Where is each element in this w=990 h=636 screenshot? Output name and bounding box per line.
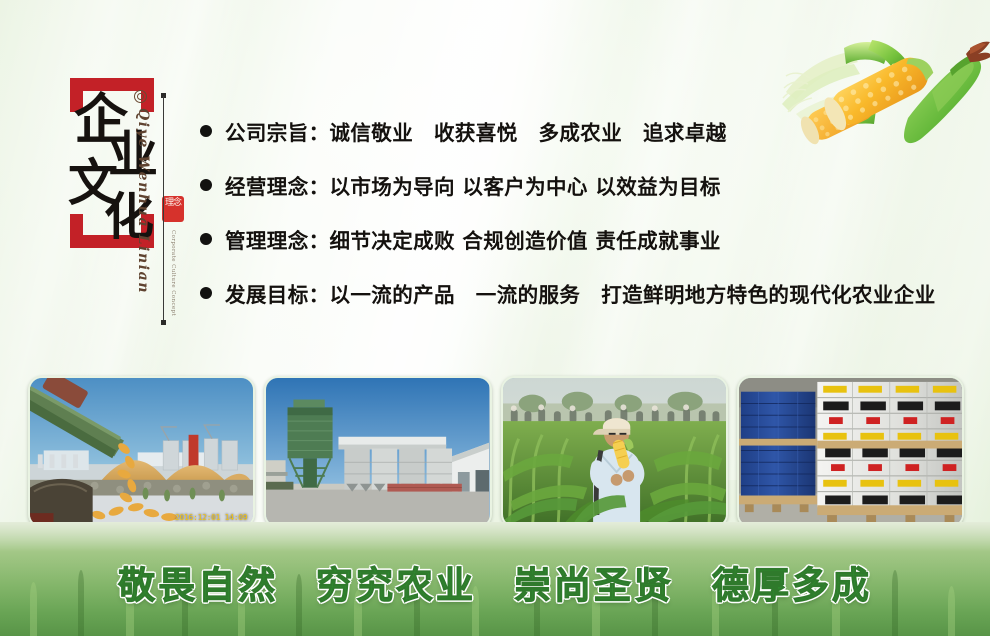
bullet-dot-icon xyxy=(200,287,212,299)
photo-timestamp: 2016:12:01 14:09 xyxy=(175,513,247,522)
double-circle-icon xyxy=(134,90,147,103)
photo-warehouse-bags[interactable] xyxy=(737,376,964,528)
photo-grain-silos[interactable] xyxy=(264,376,491,528)
vertical-divider xyxy=(161,93,166,325)
statement-text: 发展目标：以一流的产品 一流的服务 打造鲜明地方特色的现代化农业企业 xyxy=(225,278,936,308)
slogan-segment: 穷究农业 xyxy=(316,563,476,607)
divider-line xyxy=(163,96,164,322)
photo-corn-conveyor[interactable]: 2016:12:01 14:09 xyxy=(28,376,255,528)
slogan-segment: 敬畏自然 xyxy=(118,563,278,607)
title-pinyin: Qiye Wenhua Linian xyxy=(135,108,151,294)
statement-row: 公司宗旨：诚信敬业 收获喜悦 多成农业 追求卓越 xyxy=(200,104,980,158)
statement-text: 公司宗旨：诚信敬业 收获喜悦 多成农业 追求卓越 xyxy=(225,116,727,146)
slogan-segment: 崇尚圣贤 xyxy=(514,563,674,607)
statement-list: 公司宗旨：诚信敬业 收获喜悦 多成农业 追求卓越 经营理念：以市场为导向 以客户… xyxy=(200,104,980,320)
statement-row: 经营理念：以市场为导向 以客户为中心 以效益为目标 xyxy=(200,158,980,212)
pinyin-block: Qiye Wenhua Linian xyxy=(132,90,158,330)
title-english-subtext: Corporate Culture Concept xyxy=(169,230,176,300)
bullet-dot-icon xyxy=(200,233,212,245)
slogan-text: 敬畏自然 穷究农业 崇尚圣贤 德厚多成 xyxy=(0,555,990,609)
statement-text: 管理理念：细节决定成败 合规创造价值 责任成就事业 xyxy=(225,224,721,254)
bullet-dot-icon xyxy=(200,179,212,191)
statement-row: 发展目标：以一流的产品 一流的服务 打造鲜明地方特色的现代化农业企业 xyxy=(200,266,980,320)
photo-strip: 2016:12:01 14:09 xyxy=(28,376,964,528)
statement-text: 经营理念：以市场为导向 以客户为中心 以效益为目标 xyxy=(225,170,721,200)
slogan-segment: 德厚多成 xyxy=(712,563,872,607)
photo-field-inspection[interactable] xyxy=(501,376,728,528)
divider-dot-bottom xyxy=(161,320,166,325)
statement-row: 管理理念：细节决定成败 合规创造价值 责任成就事业 xyxy=(200,212,980,266)
poster-page: 企 业 文 化 理念 Corporate Culture Concept Qiy… xyxy=(0,0,990,636)
grass-band: 敬畏自然 穷究农业 崇尚圣贤 德厚多成 xyxy=(0,522,990,636)
bullet-dot-icon xyxy=(200,125,212,137)
